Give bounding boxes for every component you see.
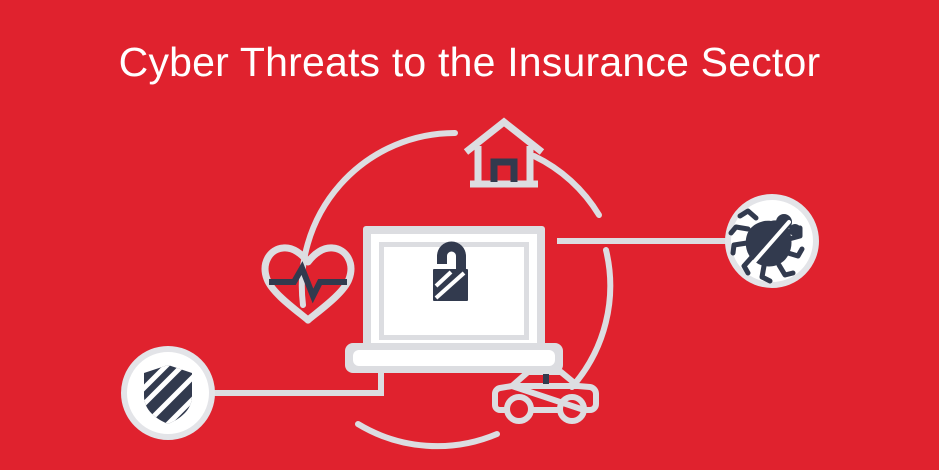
orbit-arc-bottom [358,424,497,446]
heart-pulse-icon [265,248,351,320]
car-wheel-front [507,397,531,421]
house-icon [466,122,542,184]
virus-badge [728,197,816,285]
laptop-open-padlock [345,226,563,373]
house-door [494,162,514,182]
orbit-arc-right [572,250,610,387]
virus-lobe-small [789,224,801,236]
laptop-base-inner [353,350,555,366]
open-padlock-icon [433,242,468,302]
heart-pulse-line [269,268,347,296]
cyber-threats-banner: Cyber Threats to the Insurance Sector Ho… [0,0,939,470]
page-title: Cyber Threats to the Insurance Sector [0,36,939,88]
shield-badge [124,349,212,437]
orbit-arc-upper-right [534,156,599,215]
